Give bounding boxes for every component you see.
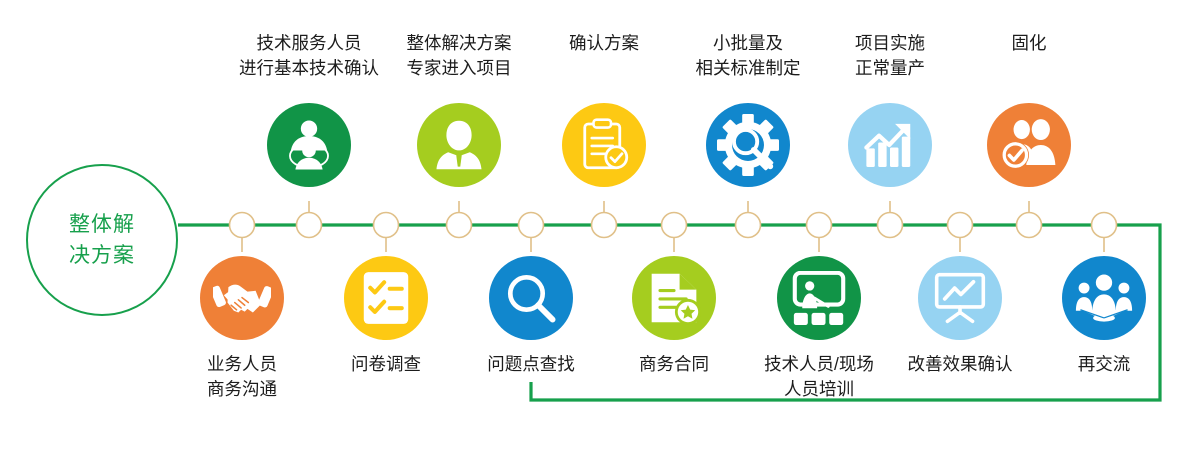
process-flow-diagram: 整体解 决方案 技术服务人员 进行基本技术确认 整体解决方案 专家进入项目 [0,0,1200,465]
hub-label-line2: 决方案 [69,240,135,271]
node-label-solidify: 固化 [924,31,1134,56]
clipboard-check-icon [562,103,646,187]
gear-search-icon [706,103,790,187]
growth-chart-icon [848,103,932,187]
handshake-icon [200,256,284,340]
hub-label-line1: 整体解 [69,209,135,240]
hub-overall-solution: 整体解 决方案 [26,164,178,316]
two-people-icon [267,103,351,187]
person-tie-icon [417,103,501,187]
checklist-icon [344,256,428,340]
node-label-re-communicate: 再交流 [999,352,1200,377]
presentation-icon [918,256,1002,340]
contract-star-icon [632,256,716,340]
magnifier-icon [489,256,573,340]
group-people-icon [1062,256,1146,340]
training-board-icon [777,256,861,340]
team-check-icon [987,103,1071,187]
